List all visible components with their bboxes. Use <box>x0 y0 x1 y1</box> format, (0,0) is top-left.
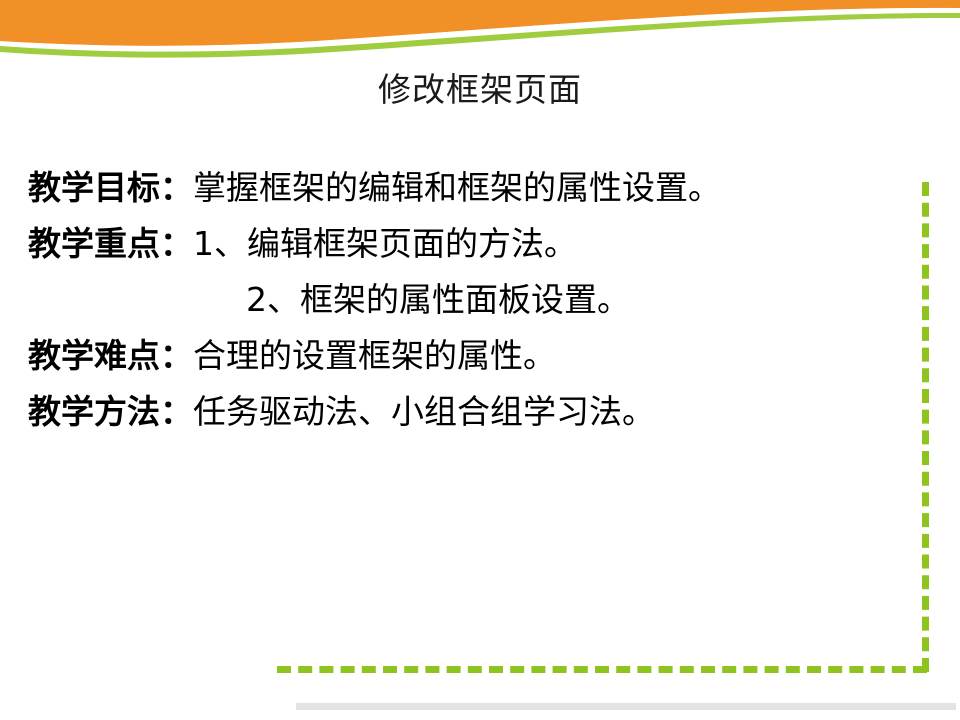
content-line-value: 合理的设置框架的属性。 <box>193 328 556 384</box>
content-line-value: 任务驱动法、小组合组学习法。 <box>193 384 655 440</box>
right-edge-mask <box>952 182 960 720</box>
content-line: 教学重点： 1、编辑框架页面的方法。 <box>28 216 908 272</box>
bottom-grey-bar <box>296 703 956 710</box>
content-line: 教学目标： 掌握框架的编辑和框架的属性设置。 <box>28 160 908 216</box>
content-line: 教学方法： 任务驱动法、小组合组学习法。 <box>28 384 908 440</box>
content-line-value: 1、编辑框架页面的方法。 <box>193 216 577 272</box>
content-line-label: 教学重点： <box>28 216 193 272</box>
content-line-value: 掌握框架的编辑和框架的属性设置。 <box>193 160 721 216</box>
content-line: 教学难点： 合理的设置框架的属性。 <box>28 328 908 384</box>
content-line-label: 教学方法： <box>28 384 193 440</box>
content-line-value: 2、框架的属性面板设置。 <box>246 272 630 328</box>
content-line-label: 教学目标： <box>28 160 193 216</box>
banner-shape-icon <box>0 0 960 70</box>
dashed-vertical-rule <box>922 182 929 672</box>
content-line-label: 教学难点： <box>28 328 193 384</box>
page-title: 修改框架页面 <box>0 68 960 112</box>
content-block: 教学目标： 掌握框架的编辑和框架的属性设置。 教学重点： 1、编辑框架页面的方法… <box>28 160 908 440</box>
content-line: 2、框架的属性面板设置。 <box>28 272 908 328</box>
dashed-horizontal-rule <box>277 666 927 673</box>
slide-canvas: 修改框架页面 教学目标： 掌握框架的编辑和框架的属性设置。 教学重点： 1、编辑… <box>0 0 960 720</box>
top-banner <box>0 0 960 70</box>
